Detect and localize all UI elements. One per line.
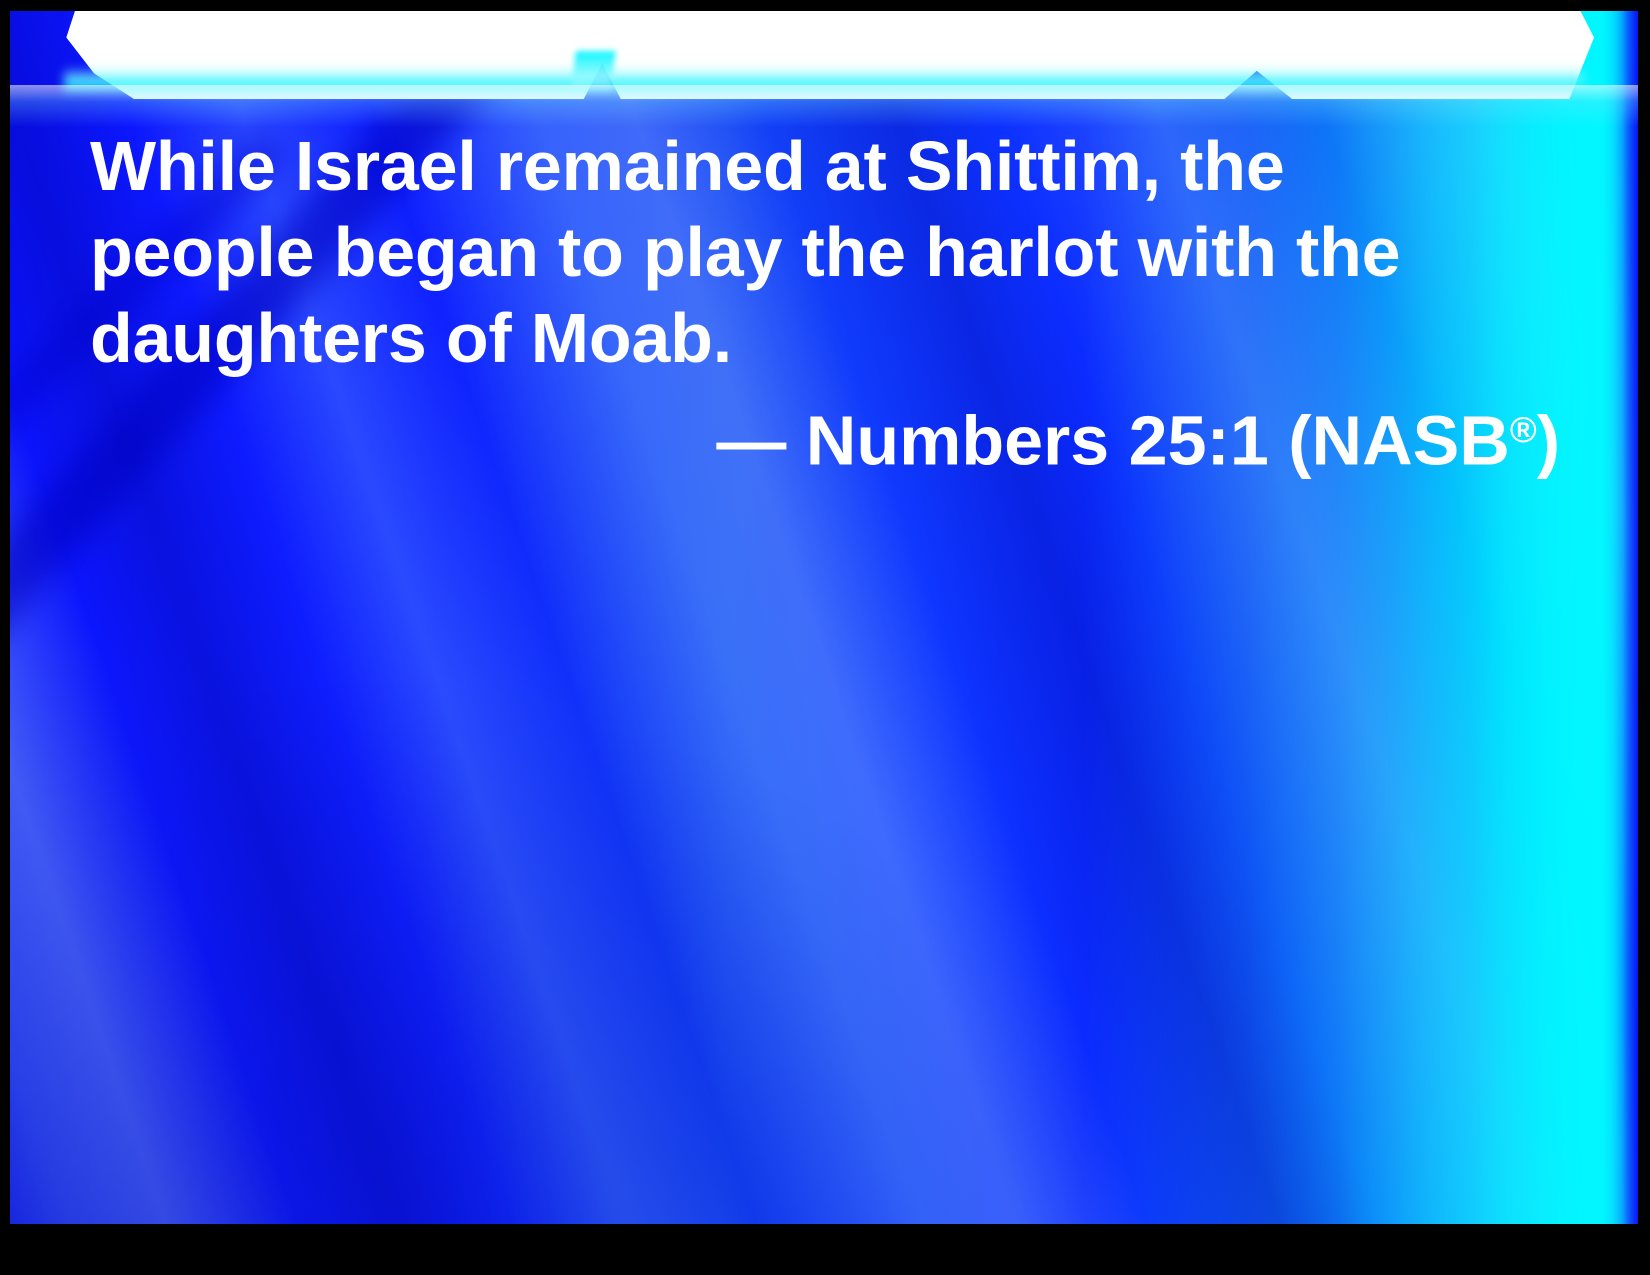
verse-line-3: daughters of Moab. [90,295,1570,381]
top-banner-center-notch [570,51,615,95]
verse-line-1: While Israel remained at Shittim, the [90,123,1570,209]
top-white-banner [10,11,1638,131]
attribution-reference: — Numbers 25:1 (NASB [716,402,1510,480]
top-banner-cyan-lip [64,67,1584,93]
slide-frame: While Israel remained at Shittim, the pe… [0,0,1650,1275]
verse-attribution: — Numbers 25:1 (NASB®) [90,387,1560,484]
verse-line-2: people began to play the harlot with the [90,209,1570,295]
slide-background: While Israel remained at Shittim, the pe… [10,11,1638,1224]
attribution-close-paren: ) [1537,402,1560,480]
registered-trademark-icon: ® [1510,409,1537,450]
